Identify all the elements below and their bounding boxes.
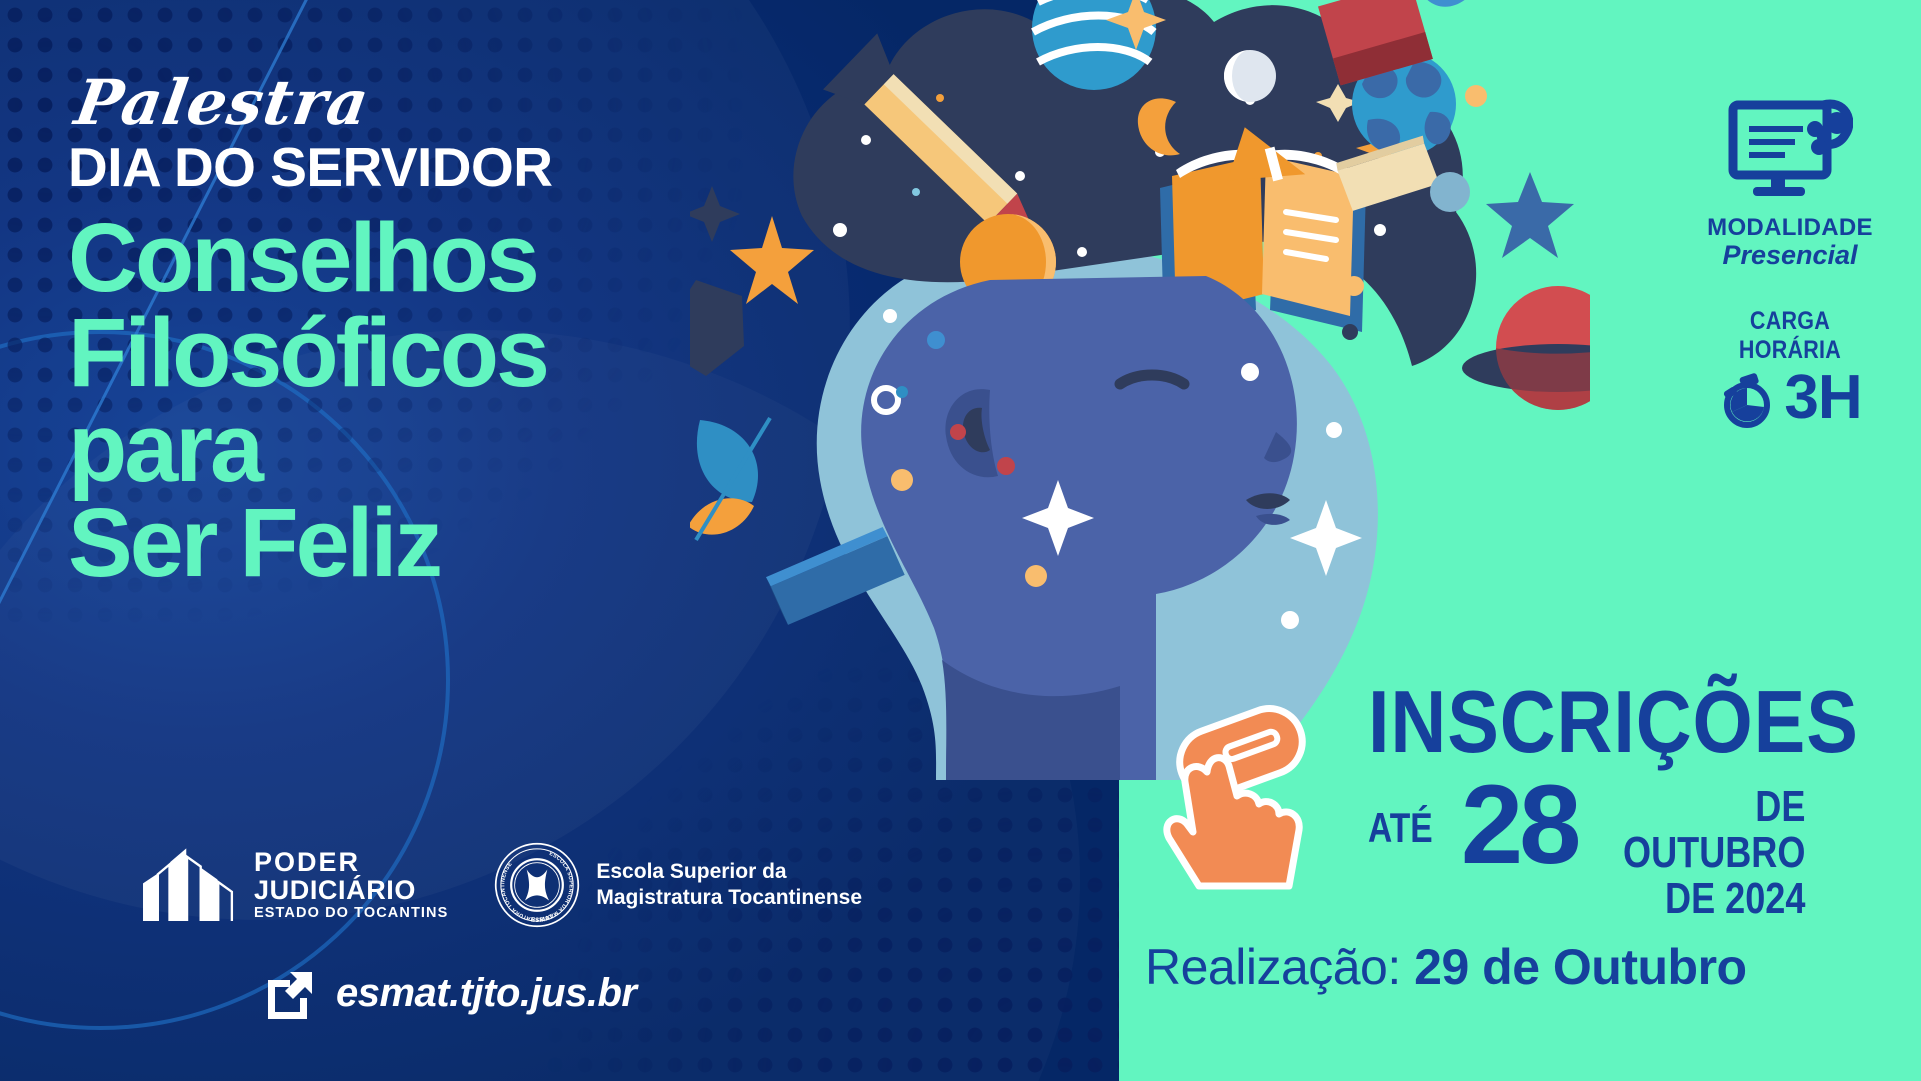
- monitor-presentation-icon: [1727, 95, 1853, 205]
- deadline-year: DE 2024: [1624, 876, 1806, 922]
- stopwatch-icon: [1718, 367, 1778, 429]
- kicker-script: Palestra: [71, 72, 773, 134]
- small-planet-icon: [1430, 172, 1470, 212]
- pj-line-1: PODER: [254, 849, 448, 877]
- info-column: MODALIDADE Presencial CARGA HORÁRIA 3H: [1690, 95, 1890, 429]
- workload-label: CARGA HORÁRIA: [1704, 307, 1876, 365]
- pj-line-3: ESTADO DO TOCANTINS: [254, 906, 448, 921]
- headline-line-1: Conselhos: [68, 210, 768, 305]
- deadline-month: DE OUTUBRO: [1624, 784, 1806, 876]
- deadline-month-stack: DE OUTUBRO DE 2024: [1583, 784, 1805, 921]
- pj-line-2: JUDICIÁRIO: [254, 877, 448, 905]
- moon-sphere-icon: [1224, 50, 1276, 102]
- esmat-seal-icon: ESCOLA SUPERIOR DA MAGISTRATURA TOCANTIN…: [494, 842, 580, 928]
- hand-cursor-click-icon: [1163, 700, 1328, 890]
- kicker-bold: DIA DO SERVIDOR: [68, 138, 768, 196]
- event-label: Realização:: [1145, 939, 1401, 995]
- modality-value: Presencial: [1690, 240, 1890, 271]
- external-link-icon[interactable]: [262, 966, 316, 1020]
- headline-line-4: Ser Feliz: [68, 495, 768, 590]
- poster-canvas: Palestra DIA DO SERVIDOR Conselhos Filos…: [0, 0, 1921, 1081]
- star-icon: [1486, 172, 1574, 258]
- modality-label: MODALIDADE: [1690, 214, 1890, 242]
- logo-row: PODER JUDICIÁRIO ESTADO DO TOCANTINS ESC…: [140, 842, 862, 928]
- esmat-name-line-2: Magistratura Tocantinense: [596, 885, 862, 911]
- event-date: 29 de Outubro: [1414, 939, 1746, 995]
- building-columns-icon: [140, 847, 238, 923]
- headline-line-3: para: [68, 400, 768, 495]
- cosmic-mind-illustration: [690, 0, 1590, 780]
- esmat-name-line-1: Escola Superior da: [596, 859, 862, 885]
- website-url[interactable]: esmat.tjto.jus.br: [336, 971, 636, 1016]
- poder-judiciario-logo: PODER JUDICIÁRIO ESTADO DO TOCANTINS: [140, 847, 448, 923]
- registration-title: INSCRIÇÕES: [1368, 678, 1859, 766]
- workload-hours: 3H: [1784, 367, 1861, 429]
- esmat-name: Escola Superior da Magistratura Tocantin…: [596, 859, 862, 910]
- event-date-row: Realização: 29 de Outubro: [1145, 938, 1747, 996]
- website-row[interactable]: esmat.tjto.jus.br: [262, 966, 636, 1020]
- workload-value-row: 3H: [1690, 367, 1890, 429]
- headline-lines: Conselhos Filosóficos para Ser Feliz: [68, 210, 768, 590]
- poder-judiciario-text: PODER JUDICIÁRIO ESTADO DO TOCANTINS: [254, 849, 448, 921]
- headline-line-2: Filosóficos: [68, 305, 768, 400]
- dot-icon: [1465, 85, 1487, 107]
- headline-block: Palestra DIA DO SERVIDOR Conselhos Filos…: [68, 72, 768, 590]
- workload-block: CARGA HORÁRIA 3H: [1690, 307, 1890, 429]
- esmat-logo: ESCOLA SUPERIOR DA MAGISTRATURA TOCANTIN…: [494, 842, 862, 928]
- registration-deadline-row: ATÉ 28 DE OUTUBRO DE 2024: [1368, 778, 1806, 921]
- until-label: ATÉ: [1368, 804, 1433, 852]
- deadline-day: 28: [1461, 778, 1578, 872]
